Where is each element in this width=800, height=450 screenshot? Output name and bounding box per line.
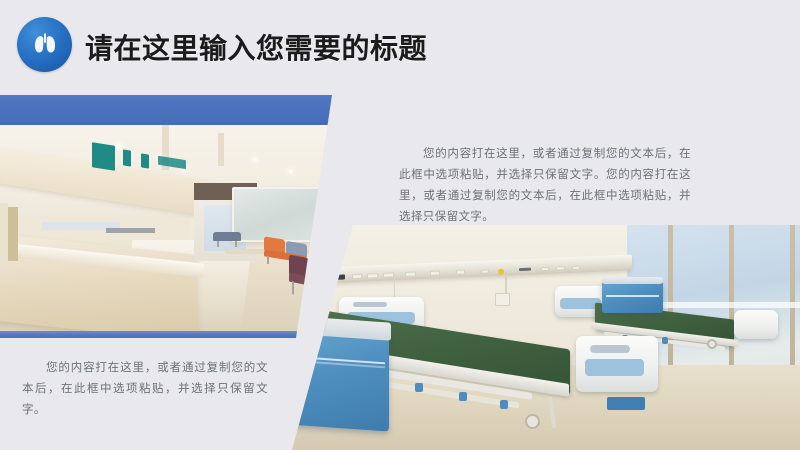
left-body-paragraph: 您的内容打在这里，或者通过复制您的文本后，在此框中选项粘贴，并选择只保留文字。 xyxy=(22,358,268,421)
lungs-icon xyxy=(17,17,72,72)
right-body-paragraph: 您的内容打在这里，或者通过复制您的文本后，在此框中选项粘贴，并选择只保留文字。您… xyxy=(399,144,691,228)
page-title: 请在这里输入您需要的标题 xyxy=(85,27,427,67)
left-photo-top-band xyxy=(0,95,352,125)
hospital-ward-beds-photo xyxy=(292,225,800,450)
slide-root: 请在这里输入您需要的标题 xyxy=(0,0,800,450)
left-photo-panel xyxy=(0,95,352,338)
slide-header: 请在这里输入您需要的标题 xyxy=(0,0,800,88)
hospital-nurse-station-photo xyxy=(0,125,352,331)
left-photo-bottom-rule xyxy=(0,331,352,338)
